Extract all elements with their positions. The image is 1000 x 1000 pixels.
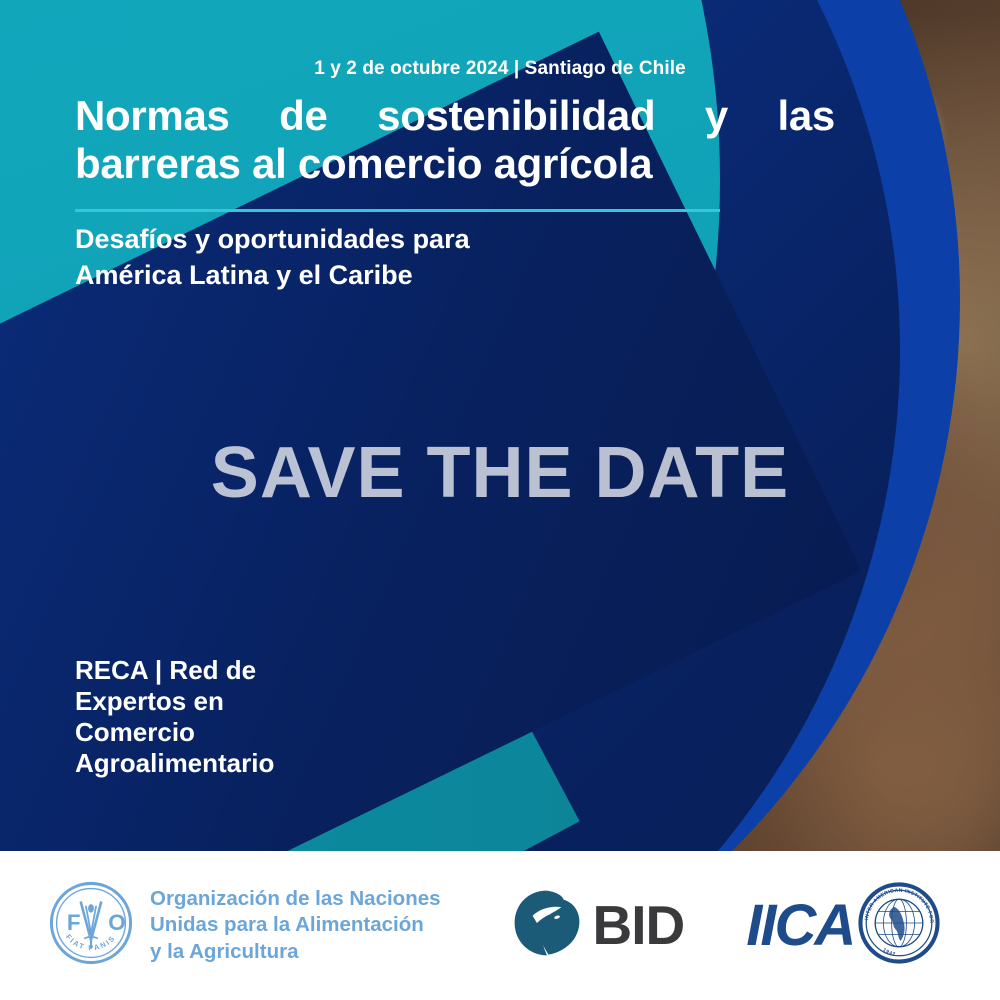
svg-text:F: F <box>67 910 81 935</box>
svg-text:1942: 1942 <box>882 947 897 957</box>
svg-text:O: O <box>108 910 125 935</box>
sponsor-footer: F O FIAT PANIS Organización de las Nacio… <box>0 851 1000 1000</box>
fao-name-line-3: y la Agricultura <box>150 940 298 963</box>
iica-globe-seal-icon: INTER AMERICAN INSTITUTE FOR COOPERATION… <box>858 882 940 969</box>
poster-subtitle-line-1: Desafíos y oportunidades para <box>75 222 715 258</box>
title-divider <box>75 209 720 212</box>
network-name-block: RECA | Red de Expertos en Comercio Agroa… <box>75 655 340 779</box>
fao-name-line-2: Unidas para la Alimentación <box>150 913 424 936</box>
network-name-line-2: Expertos en <box>75 686 340 717</box>
page-title-line-2: barreras al comercio agrícola <box>75 140 835 188</box>
iica-wordmark: IICA <box>746 897 854 955</box>
network-name-line-1: RECA | Red de <box>75 655 340 686</box>
save-the-date-text: SAVE THE DATE <box>0 432 1000 514</box>
bid-swirl-icon <box>511 887 583 964</box>
network-name-line-3: Comercio <box>75 717 340 748</box>
poster-header: 1 y 2 de octubre 2024 | Santiago de Chil… <box>0 0 1000 188</box>
fao-emblem-icon: F O FIAT PANIS <box>48 880 134 971</box>
page-title: Normas de sostenibilidad y las barreras … <box>75 92 835 188</box>
poster-subtitle: Desafíos y oportunidades para América La… <box>75 222 715 294</box>
fao-logo: F O FIAT PANIS Organización de las Nacio… <box>48 880 441 971</box>
save-the-date-poster: 1 y 2 de octubre 2024 | Santiago de Chil… <box>0 0 1000 1000</box>
fao-organization-name: Organización de las Naciones Unidas para… <box>150 886 441 966</box>
bid-wordmark: BID <box>593 898 685 953</box>
poster-artwork: 1 y 2 de octubre 2024 | Santiago de Chil… <box>0 0 1000 851</box>
fao-name-line-1: Organización de las Naciones <box>150 887 441 910</box>
bid-logo: BID <box>511 887 685 964</box>
event-dateline: 1 y 2 de octubre 2024 | Santiago de Chil… <box>0 58 1000 80</box>
poster-subtitle-line-2: América Latina y el Caribe <box>75 258 715 294</box>
iica-logo: IICA I <box>746 882 940 969</box>
network-name-line-4: Agroalimentario <box>75 748 340 779</box>
page-title-line-1: Normas de sostenibilidad y las <box>75 92 835 140</box>
